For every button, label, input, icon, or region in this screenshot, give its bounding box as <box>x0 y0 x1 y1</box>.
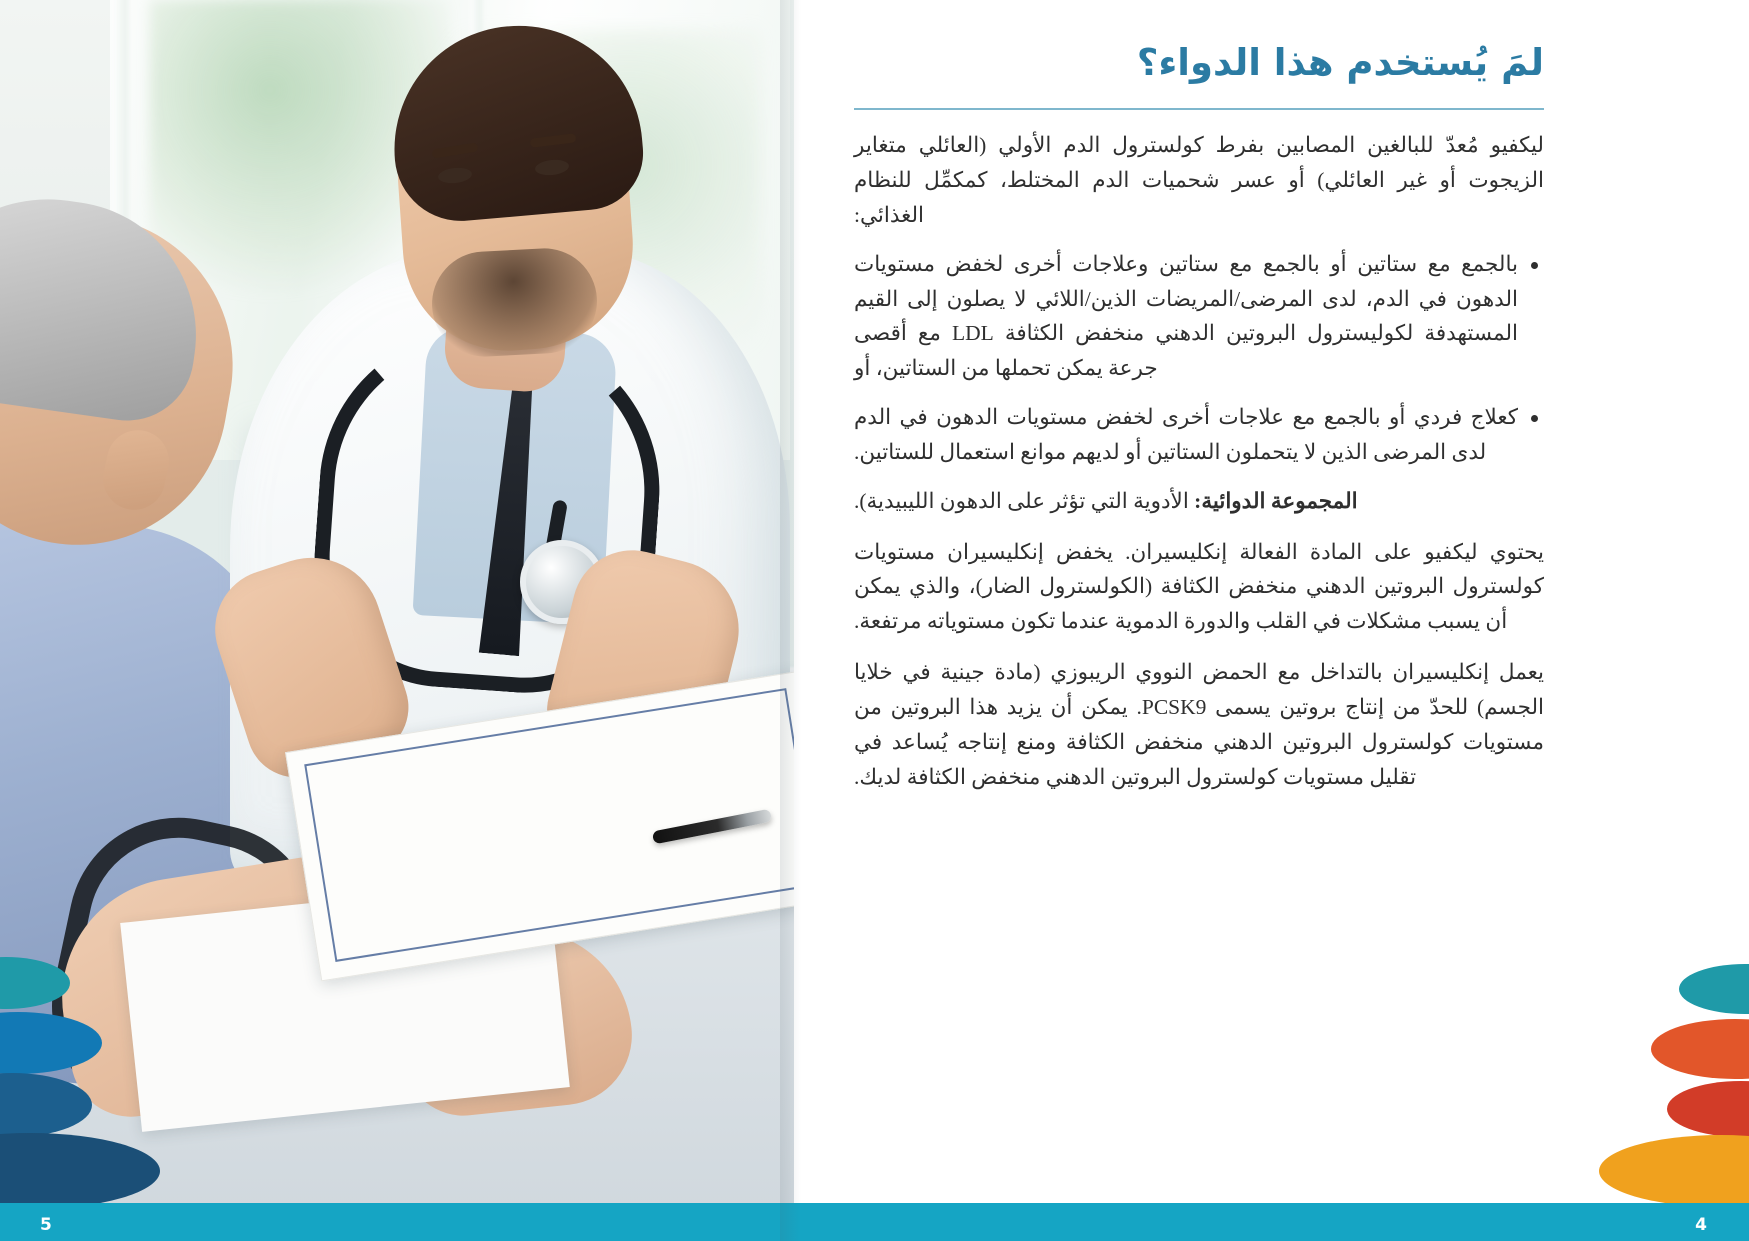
decor-ellipse-teal <box>1679 964 1749 1014</box>
decorative-ellipses-right <box>1469 963 1749 1203</box>
text-column: لمَ يُستخدم هذا الدواء؟ ليكفيو مُعدّ للب… <box>854 40 1544 810</box>
body-paragraph-1: يحتوي ليكفيو على المادة الفعالة إنكليسير… <box>854 535 1544 639</box>
decor-ellipse-red <box>1667 1081 1749 1137</box>
pharmacological-group-label: المجموعة الدوائية: <box>1194 489 1357 513</box>
decor-ellipse-orange <box>1651 1019 1749 1079</box>
page-title: لمَ يُستخدم هذا الدواء؟ <box>854 40 1544 86</box>
footer-bar <box>0 1203 1749 1241</box>
list-item: كعلاج فردي أو بالجمع مع علاجات أخرى لخفض… <box>854 400 1544 470</box>
intro-paragraph: ليكفيو مُعدّ للبالغين المصابين بفرط كولس… <box>854 128 1544 232</box>
decor-ellipse-amber <box>1599 1135 1749 1203</box>
leaflet-spread: 5 لمَ يُستخدم هذا الدواء؟ ليكفيو مُعدّ ل… <box>0 0 1749 1241</box>
page-number-right: 4 <box>1695 1215 1707 1235</box>
left-page-photo: 5 <box>0 0 794 1241</box>
list-item: بالجمع مع ستاتين أو بالجمع مع ستاتين وعل… <box>854 247 1544 386</box>
indication-bullet-list: بالجمع مع ستاتين أو بالجمع مع ستاتين وعل… <box>854 247 1544 470</box>
page-number-left: 5 <box>40 1215 52 1235</box>
pharmacological-group-line: المجموعة الدوائية: الأدوية التي تؤثر على… <box>854 484 1544 519</box>
body-paragraph-2: يعمل إنكليسيران بالتداخل مع الحمض النووي… <box>854 655 1544 794</box>
title-divider-rule <box>854 108 1544 110</box>
right-page-text: لمَ يُستخدم هذا الدواء؟ ليكفيو مُعدّ للب… <box>794 0 1749 1241</box>
pharmacological-group-text: الأدوية التي تؤثر على الدهون الليبيدية). <box>854 489 1194 513</box>
